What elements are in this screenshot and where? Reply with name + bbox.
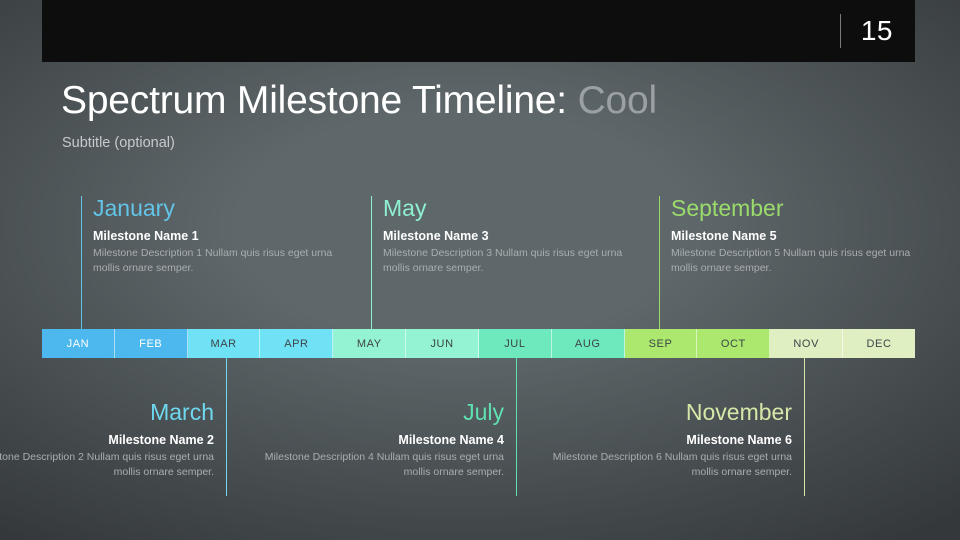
milestone-name: Milestone Name 3	[383, 229, 623, 245]
timeline-cell-label: MAY	[357, 338, 382, 350]
timeline-cell-jan[interactable]: JAN	[42, 329, 115, 358]
timeline-cell-oct[interactable]: OCT	[697, 329, 770, 358]
timeline-bar[interactable]: JANFEBMARAPRMAYJUNJULAUGSEPOCTNOVDEC	[42, 329, 915, 358]
header-band: 15	[42, 0, 915, 62]
timeline-cell-sep[interactable]: SEP	[625, 329, 698, 358]
milestone-month: May	[383, 196, 623, 222]
timeline-cell-mar[interactable]: MAR	[188, 329, 261, 358]
timeline-cell-feb[interactable]: FEB	[115, 329, 188, 358]
connector-line-november	[804, 358, 805, 496]
timeline-cell-apr[interactable]: APR	[260, 329, 333, 358]
milestone-block-july: JulyMilestone Name 4Milestone Descriptio…	[264, 400, 504, 480]
timeline-cell-label: JUN	[430, 338, 453, 350]
milestone-description: Milestone Description 2 Nullam quis risu…	[0, 450, 214, 480]
page-number-divider	[840, 14, 841, 48]
milestone-month: November	[552, 400, 792, 426]
milestone-month: September	[671, 196, 911, 222]
milestone-month: July	[264, 400, 504, 426]
slide-canvas: 15 Spectrum Milestone Timeline: Cool Sub…	[0, 0, 960, 540]
page-subtitle: Subtitle (optional)	[62, 135, 175, 151]
milestone-block-may: MayMilestone Name 3Milestone Description…	[383, 196, 623, 276]
milestone-description: Milestone Description 4 Nullam quis risu…	[264, 450, 504, 480]
milestone-description: Milestone Description 1 Nullam quis risu…	[93, 246, 333, 276]
milestone-block-november: NovemberMilestone Name 6Milestone Descri…	[552, 400, 792, 480]
milestone-block-september: SeptemberMilestone Name 5Milestone Descr…	[671, 196, 911, 276]
milestone-name: Milestone Name 5	[671, 229, 911, 245]
milestone-description: Milestone Description 5 Nullam quis risu…	[671, 246, 911, 276]
milestone-name: Milestone Name 2	[0, 433, 214, 449]
milestone-block-march: MarchMilestone Name 2Milestone Descripti…	[0, 400, 214, 480]
timeline-cell-jul[interactable]: JUL	[479, 329, 552, 358]
page-title-main: Spectrum Milestone Timeline:	[61, 79, 567, 122]
page-title-accent: Cool	[578, 79, 657, 122]
connector-line-july	[516, 358, 517, 496]
page-number: 15	[861, 10, 893, 52]
timeline-cell-label: DEC	[867, 338, 892, 350]
timeline-cell-label: APR	[284, 338, 308, 350]
timeline-cell-label: OCT	[721, 338, 746, 350]
connector-line-january	[81, 196, 82, 329]
milestone-name: Milestone Name 4	[264, 433, 504, 449]
connector-line-september	[659, 196, 660, 329]
milestone-description: Milestone Description 6 Nullam quis risu…	[552, 450, 792, 480]
timeline-cell-label: AUG	[575, 338, 601, 350]
milestone-name: Milestone Name 1	[93, 229, 333, 245]
connector-line-march	[226, 358, 227, 496]
timeline-cell-aug[interactable]: AUG	[552, 329, 625, 358]
timeline-cell-label: FEB	[139, 338, 162, 350]
milestone-month: March	[0, 400, 214, 426]
timeline-cell-nov[interactable]: NOV	[770, 329, 843, 358]
timeline-cell-jun[interactable]: JUN	[406, 329, 479, 358]
milestone-name: Milestone Name 6	[552, 433, 792, 449]
milestone-month: January	[93, 196, 333, 222]
timeline-cell-may[interactable]: MAY	[333, 329, 406, 358]
milestone-description: Milestone Description 3 Nullam quis risu…	[383, 246, 623, 276]
milestone-block-january: JanuaryMilestone Name 1Milestone Descrip…	[93, 196, 333, 276]
timeline-cell-dec[interactable]: DEC	[843, 329, 915, 358]
page-title: Spectrum Milestone Timeline: Cool	[61, 79, 657, 123]
timeline-cell-label: JUL	[504, 338, 525, 350]
timeline-cell-label: MAR	[210, 338, 236, 350]
connector-line-may	[371, 196, 372, 329]
timeline-cell-label: JAN	[67, 338, 90, 350]
timeline-cell-label: SEP	[649, 338, 673, 350]
timeline-cell-label: NOV	[793, 338, 819, 350]
